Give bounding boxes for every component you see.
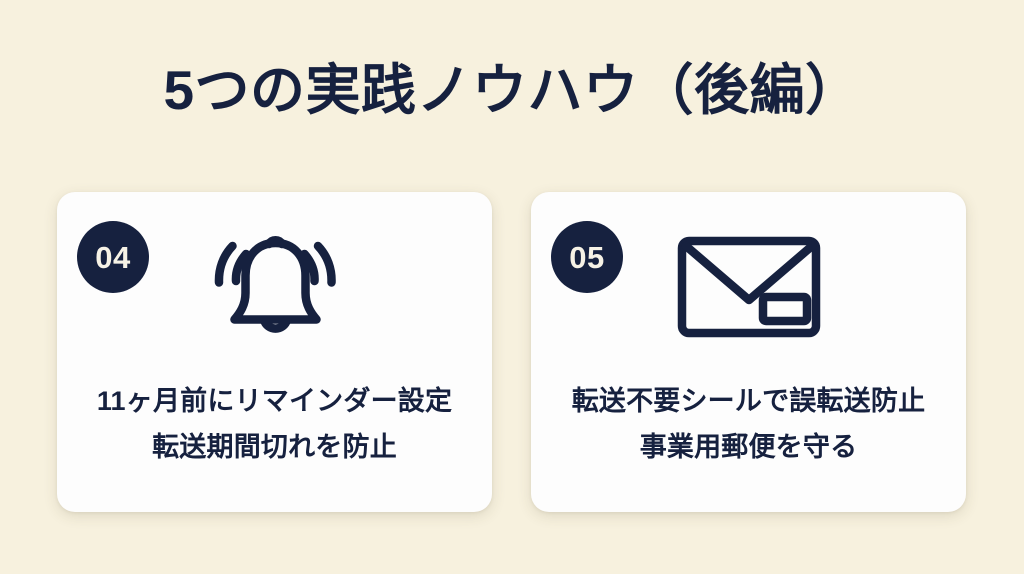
caption-line-2: 転送期間切れを防止 bbox=[57, 424, 492, 470]
card-caption: 転送不要シールで誤転送防止 事業用郵便を守る bbox=[531, 378, 966, 470]
card-caption: 11ヶ月前にリマインダー設定 転送期間切れを防止 bbox=[57, 378, 492, 470]
knowhow-card-05[interactable]: 05 転送不要シールで誤転送防止 事業用郵便を守る bbox=[531, 192, 966, 512]
caption-line-1: 転送不要シールで誤転送防止 bbox=[531, 378, 966, 424]
page-title: 5つの実践ノウハウ（後編） bbox=[0, 55, 1024, 125]
caption-line-2: 事業用郵便を守る bbox=[531, 424, 966, 470]
caption-line-1: 11ヶ月前にリマインダー設定 bbox=[57, 378, 492, 424]
card-number-badge: 05 bbox=[551, 221, 623, 293]
card-number-badge: 04 bbox=[77, 221, 149, 293]
slide-canvas: 5つの実践ノウハウ（後編） 04 11ヶ月前にリマインダー設定 転送期間切 bbox=[0, 0, 1024, 574]
knowhow-card-04[interactable]: 04 11ヶ月前にリマインダー設定 転送期間切れを防止 bbox=[57, 192, 492, 512]
